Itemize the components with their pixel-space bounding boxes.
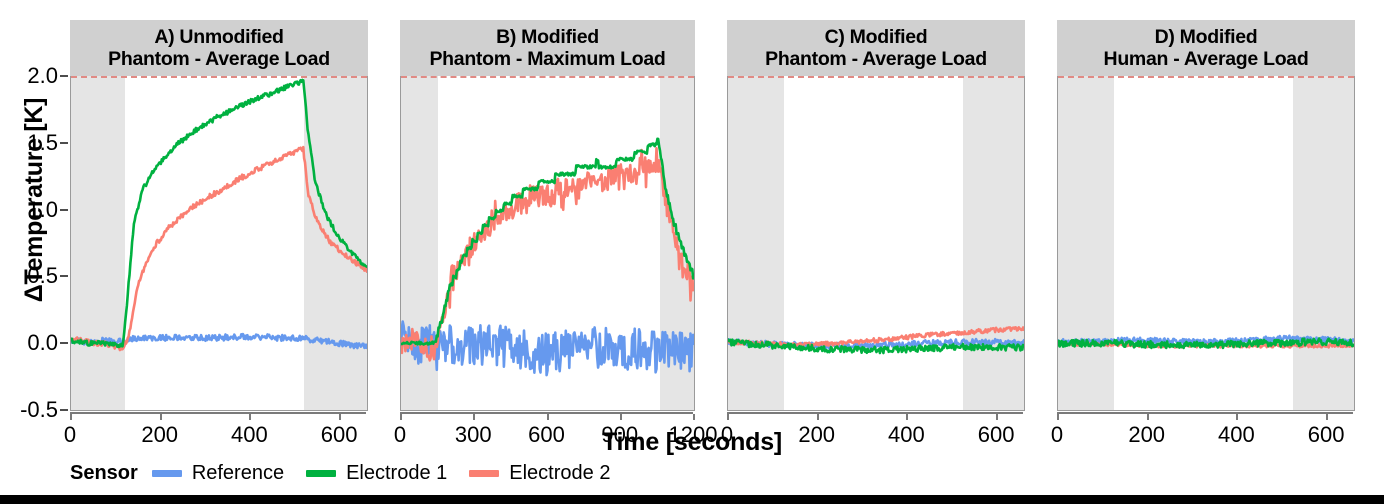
x-tick-label: 300	[455, 422, 492, 448]
legend-title: Sensor	[70, 462, 138, 485]
bottom-bar	[0, 495, 1384, 504]
legend-label: Electrode 2	[509, 462, 610, 485]
series-line-electrode-2	[71, 147, 367, 350]
x-tick-mark	[400, 414, 402, 420]
legend-item-electrode-2[interactable]: Electrode 2	[469, 462, 610, 485]
x-tick-label: 200	[1128, 422, 1165, 448]
x-tick-label: 400	[888, 422, 925, 448]
y-tick-label: 1.5	[27, 130, 58, 156]
panel-title-strip: B) ModifiedPhantom - Maximum Load	[400, 20, 695, 76]
legend: Sensor ReferenceElectrode 1Electrode 2	[70, 462, 632, 485]
series-line-electrode-1	[71, 80, 367, 347]
plot-area	[1057, 76, 1355, 411]
legend-items: ReferenceElectrode 1Electrode 2	[152, 462, 633, 485]
y-tick-label: -0.5	[20, 397, 58, 423]
x-tick-mark	[693, 414, 695, 420]
y-tick-mark	[60, 142, 68, 144]
x-tick-mark	[1236, 414, 1238, 420]
y-tick-mark	[60, 209, 68, 211]
legend-item-reference[interactable]: Reference	[152, 462, 284, 485]
x-tick-label: 600	[528, 422, 565, 448]
y-tick-label: 2.0	[27, 63, 58, 89]
panel-title-line1: B) Modified	[496, 26, 599, 48]
x-tick-label: 400	[231, 422, 268, 448]
y-tick-label: 0.0	[27, 330, 58, 356]
x-tick-label: 600	[978, 422, 1015, 448]
legend-label: Reference	[192, 462, 284, 485]
panel-title-line1: C) Modified	[825, 26, 928, 48]
x-tick-label: 400	[1218, 422, 1255, 448]
legend-item-electrode-1[interactable]: Electrode 1	[306, 462, 447, 485]
x-tick-mark	[1057, 414, 1059, 420]
plot-area	[727, 76, 1025, 411]
panel-title-strip: A) UnmodifiedPhantom - Average Load	[70, 20, 368, 76]
panel-b: B) ModifiedPhantom - Maximum Load	[400, 20, 695, 411]
x-tick-label: 0	[394, 422, 406, 448]
panel-title-line2: Phantom - Average Load	[108, 48, 330, 70]
x-tick-label: 200	[141, 422, 178, 448]
x-tick-mark	[473, 414, 475, 420]
panel-title-line2: Phantom - Maximum Load	[429, 48, 665, 70]
x-tick-label: 200	[798, 422, 835, 448]
x-tick-label: 0	[721, 422, 733, 448]
x-tick-mark	[906, 414, 908, 420]
x-tick-label: 600	[1308, 422, 1345, 448]
x-tick-label: 0	[64, 422, 76, 448]
legend-color-swatch	[469, 470, 499, 477]
x-tick-mark	[727, 414, 729, 420]
panel-title-strip: C) ModifiedPhantom - Average Load	[727, 20, 1025, 76]
trace-group	[728, 76, 1024, 410]
panel-title-line2: Phantom - Average Load	[765, 48, 987, 70]
x-tick-label: 900	[601, 422, 638, 448]
plot-area	[70, 76, 368, 411]
x-axis-line	[70, 412, 366, 414]
x-tick-mark	[160, 414, 162, 420]
x-tick-mark	[70, 414, 72, 420]
figure-root: ΔTemperature [K] -0.50.00.51.01.52.0 A) …	[0, 0, 1384, 504]
x-tick-mark	[547, 414, 549, 420]
panel-title-line2: Human - Average Load	[1104, 48, 1309, 70]
trace-group	[1058, 76, 1354, 410]
y-tick-label: 1.0	[27, 197, 58, 223]
y-tick-mark	[60, 342, 68, 344]
x-tick-mark	[996, 414, 998, 420]
legend-color-swatch	[152, 470, 182, 477]
trace-group	[71, 76, 367, 410]
x-tick-mark	[249, 414, 251, 420]
y-tick-mark	[60, 409, 68, 411]
x-axis-line	[1057, 412, 1353, 414]
legend-color-swatch	[306, 470, 336, 477]
x-tick-label: 0	[1051, 422, 1063, 448]
y-tick-mark	[60, 75, 68, 77]
series-line-reference	[401, 322, 694, 376]
y-tick-mark	[60, 275, 68, 277]
plot-area	[400, 76, 695, 411]
panel-c: C) ModifiedPhantom - Average Load	[727, 20, 1025, 411]
x-axis-line	[727, 412, 1023, 414]
x-tick-mark	[1147, 414, 1149, 420]
panel-d: D) ModifiedHuman - Average Load	[1057, 20, 1355, 411]
x-tick-label: 1200	[669, 422, 718, 448]
legend-label: Electrode 1	[346, 462, 447, 485]
panel-title-line1: A) Unmodified	[154, 26, 283, 48]
x-tick-label: 600	[321, 422, 358, 448]
x-tick-mark	[339, 414, 341, 420]
x-tick-mark	[1326, 414, 1328, 420]
trace-group	[401, 76, 694, 410]
panel-title-strip: D) ModifiedHuman - Average Load	[1057, 20, 1355, 76]
y-axis: -0.50.00.51.01.52.0	[0, 76, 70, 410]
y-tick-label: 0.5	[27, 263, 58, 289]
x-tick-mark	[817, 414, 819, 420]
panel-a: A) UnmodifiedPhantom - Average Load	[70, 20, 368, 411]
panel-title-line1: D) Modified	[1155, 26, 1258, 48]
x-tick-mark	[620, 414, 622, 420]
